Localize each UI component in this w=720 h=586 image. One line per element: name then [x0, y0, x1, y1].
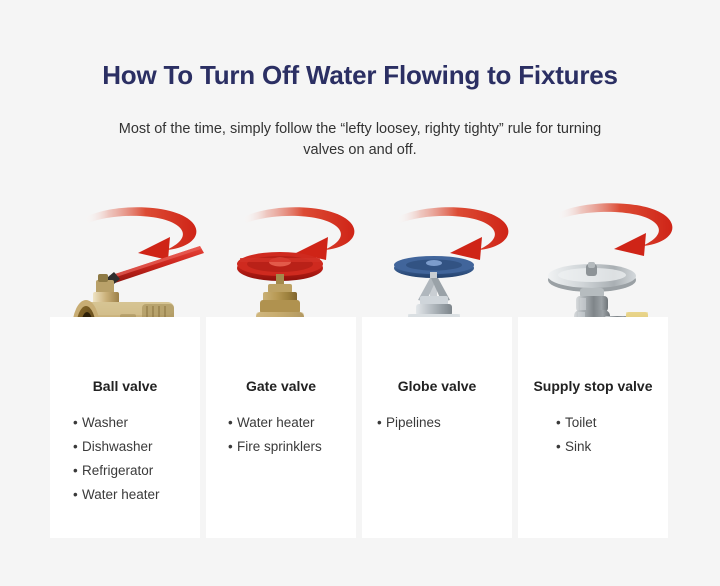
list-item-label: Dishwasher — [82, 439, 153, 454]
card-gate-valve[interactable]: Gate valve •Water heater •Fire sprinkler… — [206, 317, 356, 538]
list-item: •Refrigerator — [73, 459, 160, 483]
list-item-label: Fire sprinklers — [237, 439, 322, 454]
card-heading: Globe valve — [362, 378, 512, 394]
card-list: •Washer •Dishwasher •Refrigerator •Water… — [73, 411, 160, 507]
card-supply-stop-valve[interactable]: Supply stop valve •Toilet •Sink — [518, 317, 668, 538]
list-item: •Fire sprinklers — [228, 435, 322, 459]
list-item: •Dishwasher — [73, 435, 160, 459]
page-subtitle: Most of the time, simply follow the “lef… — [110, 119, 610, 161]
righty-tighty-arrow — [84, 207, 196, 260]
list-item-label: Sink — [565, 439, 591, 454]
list-item: •Sink — [556, 435, 597, 459]
page-title: How To Turn Off Water Flowing to Fixture… — [0, 60, 720, 91]
card-ball-valve[interactable]: Ball valve •Washer •Dishwasher •Refriger… — [50, 317, 200, 538]
card-globe-valve[interactable]: Globe valve •Pipelines — [362, 317, 512, 538]
card-heading: Gate valve — [206, 378, 356, 394]
bullet-icon: • — [377, 411, 386, 435]
righty-tighty-arrow — [396, 207, 508, 260]
list-item: •Water heater — [73, 483, 160, 507]
globe-valve-stem — [416, 272, 452, 316]
bullet-icon: • — [73, 435, 82, 459]
supply-stop-bonnet — [576, 288, 608, 312]
bullet-icon: • — [228, 411, 237, 435]
card-heading: Supply stop valve — [518, 378, 668, 394]
list-item-label: Water heater — [82, 487, 160, 502]
card-list: •Water heater •Fire sprinklers — [228, 411, 322, 459]
list-item: •Pipelines — [377, 411, 441, 435]
list-item-label: Refrigerator — [82, 463, 153, 478]
bullet-icon: • — [228, 435, 237, 459]
bullet-icon: • — [73, 483, 82, 507]
infographic-root: How To Turn Off Water Flowing to Fixture… — [0, 0, 720, 586]
bullet-icon: • — [73, 411, 82, 435]
list-item-label: Toilet — [565, 415, 597, 430]
list-item-label: Pipelines — [386, 415, 441, 430]
righty-tighty-arrow — [556, 203, 672, 256]
valve-cards: Ball valve •Washer •Dishwasher •Refriger… — [50, 317, 668, 538]
bullet-icon: • — [556, 435, 565, 459]
list-item: •Toilet — [556, 411, 597, 435]
card-list: •Toilet •Sink — [556, 411, 597, 459]
card-list: •Pipelines — [377, 411, 441, 435]
list-item-label: Water heater — [237, 415, 315, 430]
list-item-label: Washer — [82, 415, 128, 430]
righty-tighty-arrow — [242, 207, 354, 260]
bullet-icon: • — [556, 411, 565, 435]
card-heading: Ball valve — [50, 378, 200, 394]
bullet-icon: • — [73, 459, 82, 483]
list-item: •Washer — [73, 411, 160, 435]
list-item: •Water heater — [228, 411, 322, 435]
supply-stop-handle — [548, 262, 636, 292]
